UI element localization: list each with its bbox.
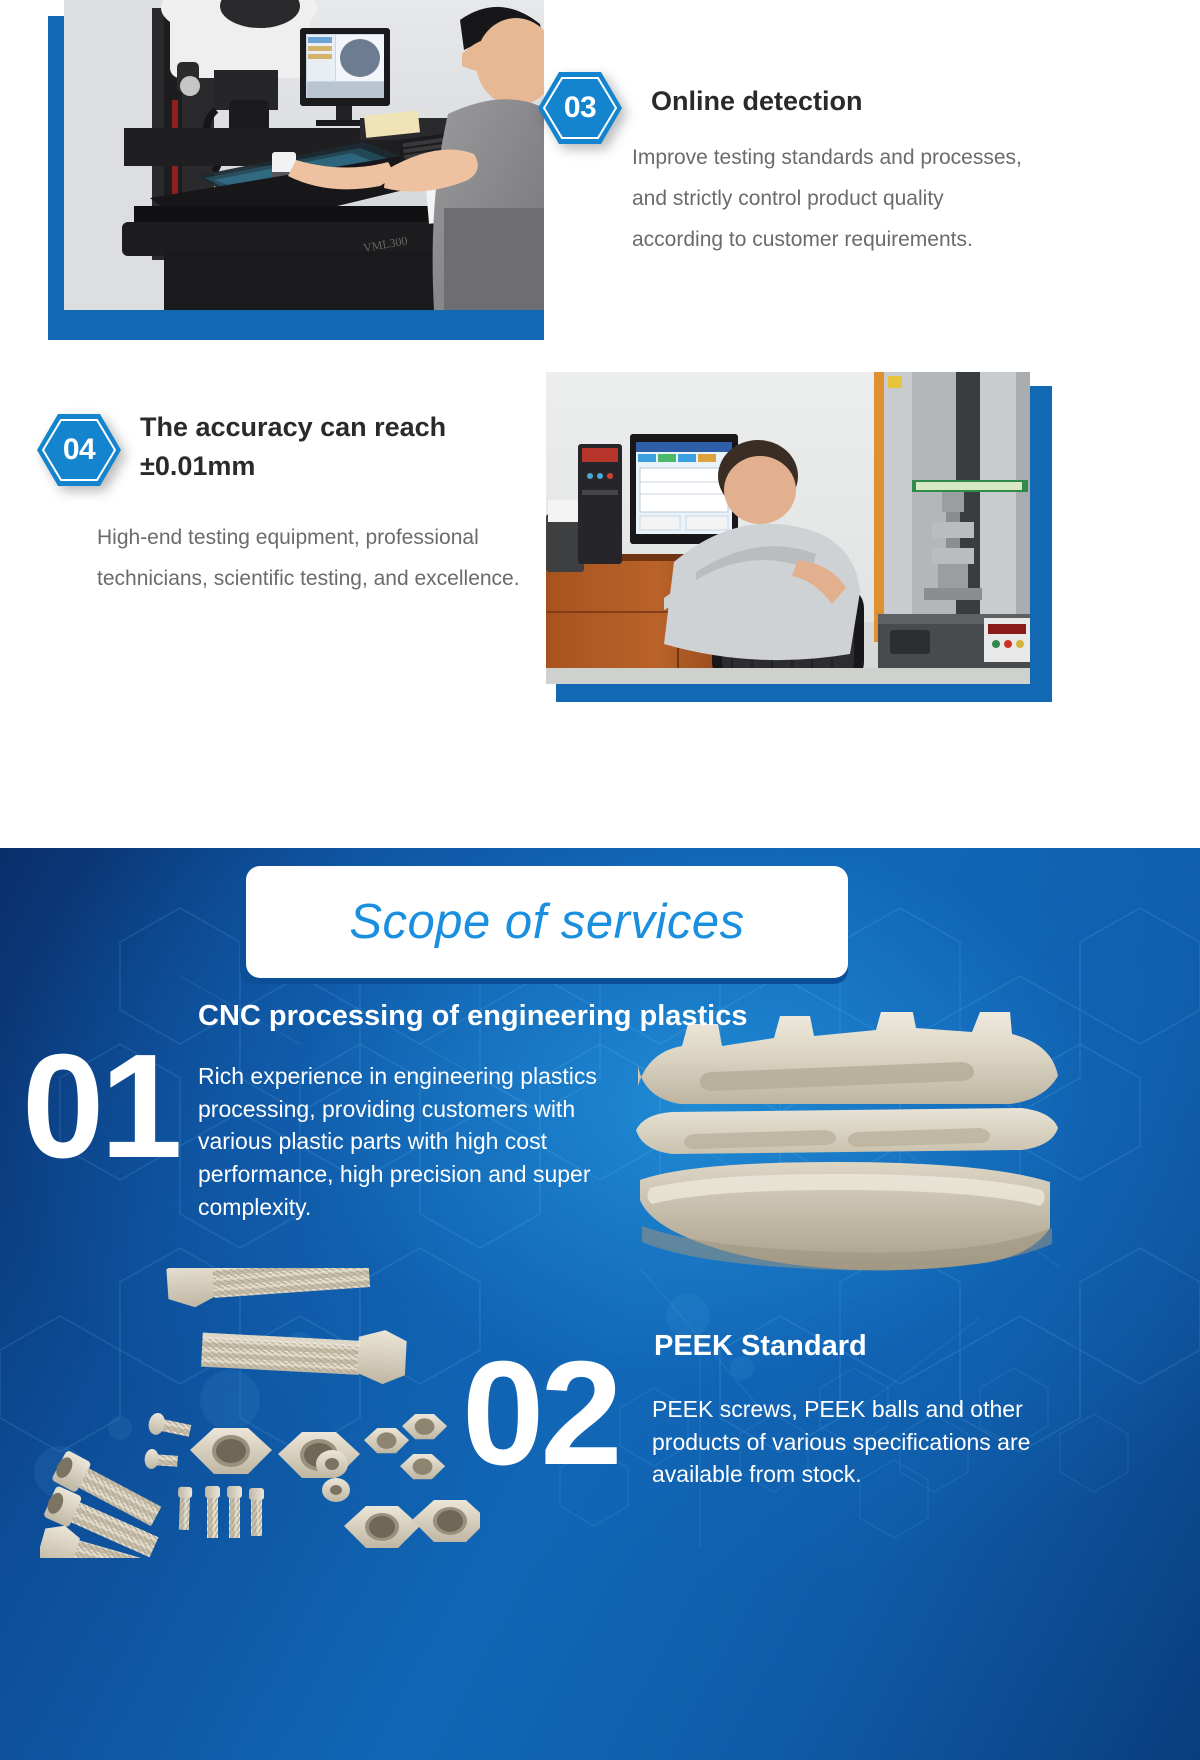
hexagon-badge-icon-03: 03 <box>537 70 623 146</box>
feature-body-accuracy: High-end testing equipment, professional… <box>97 518 527 600</box>
photo-peek-screws-and-nuts <box>40 1268 480 1558</box>
service-number-02: 02 <box>462 1340 619 1488</box>
service-title-cnc: CNC processing of engineering plastics <box>198 1000 958 1033</box>
feature-title-online-detection: Online detection <box>651 82 1071 121</box>
hexagon-badge-number: 03 <box>537 70 623 146</box>
service-body-cnc: Rich experience in engineering plastics … <box>198 1060 628 1223</box>
photo-tensile-testing-machine-frame <box>546 372 1066 702</box>
banner-card: Scope of services <box>246 866 848 978</box>
hexagon-badge-number: 04 <box>36 412 122 488</box>
service-title-peek: PEEK Standard <box>654 1330 1074 1363</box>
photo-tensile-testing-machine <box>546 372 1030 684</box>
photo-optical-measuring-machine: VML300 <box>64 0 544 310</box>
page-title: Scope of services <box>349 894 744 950</box>
features-section: VML300 <box>0 0 1200 848</box>
hexagon-badge-icon-04: 04 <box>36 412 122 488</box>
photo-peek-machined-plate <box>620 1012 1070 1282</box>
photo-optical-measuring-machine-frame: VML300 <box>24 0 544 340</box>
feature-body-online-detection: Improve testing standards and processes,… <box>632 138 1032 261</box>
feature-title-accuracy: The accuracy can reach ±0.01mm <box>140 408 500 486</box>
service-number-01: 01 <box>22 1033 179 1181</box>
service-body-peek: PEEK screws, PEEK balls and other produc… <box>652 1393 1052 1491</box>
scope-banner: Scope of services <box>240 866 848 984</box>
